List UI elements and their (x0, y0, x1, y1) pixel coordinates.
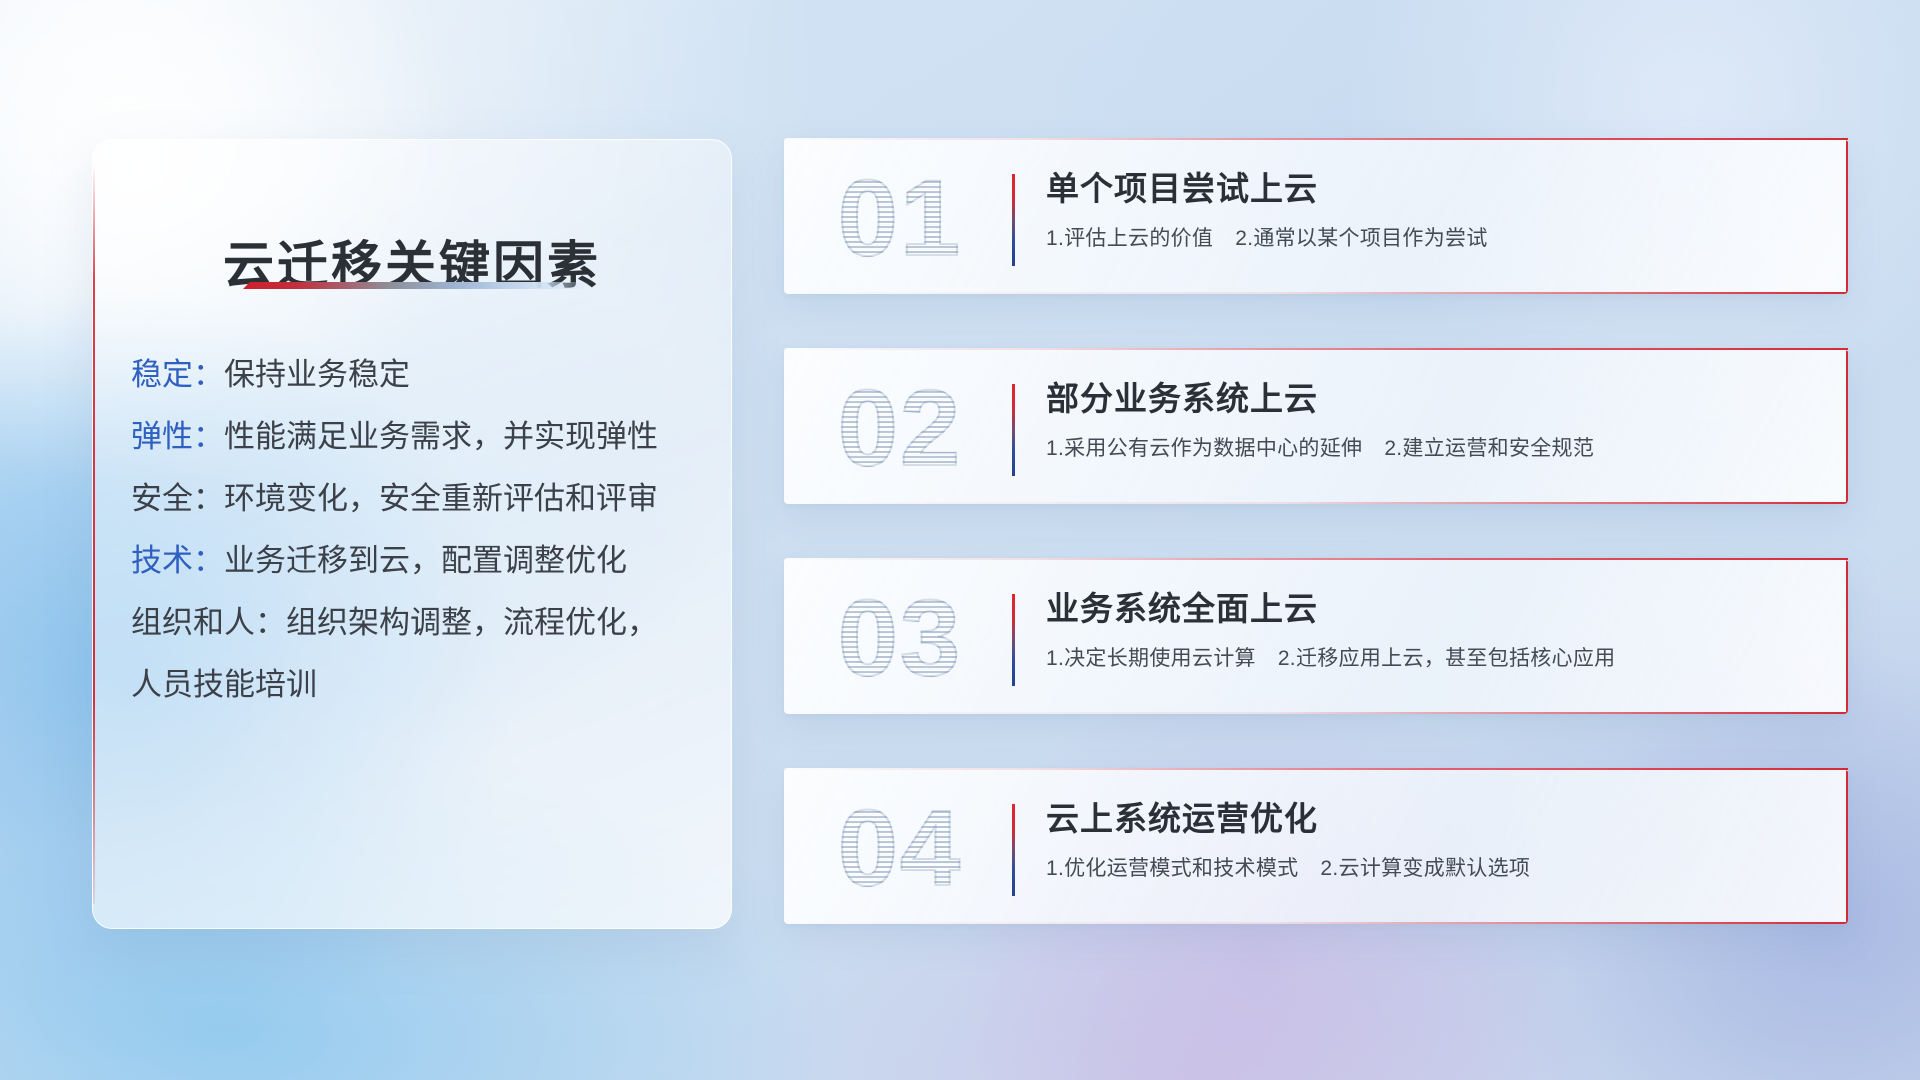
step-text-block-03: 业务系统全面上云 1.决定长期使用云计算2.迁移应用上云，甚至包括核心应用 (1046, 586, 1824, 674)
factor-text-security: 环境变化，安全重新评估和评审 (224, 481, 658, 516)
step-number-watermark-03: 03 (812, 576, 988, 700)
factor-label-security: 安全： (131, 481, 224, 516)
step-subtitle-02: 1.采用公有云作为数据中心的延伸2.建立运营和安全规范 (1046, 434, 1824, 464)
step-accent-bar-03 (1012, 594, 1015, 686)
step-number-watermark-01: 01 (812, 156, 988, 280)
step-point-01-1: 1.评估上云的价值 (1046, 227, 1213, 250)
step-point-02-2: 2.建立运营和安全规范 (1384, 437, 1594, 460)
step-point-04-1: 1.优化运营模式和技术模式 (1046, 857, 1298, 880)
step-point-04-2: 2.云计算变成默认选项 (1320, 857, 1530, 880)
factor-label-organization: 组织和人： (131, 605, 286, 640)
factor-text-elasticity: 性能满足业务需求，并实现弹性 (224, 419, 658, 454)
step-subtitle-04: 1.优化运营模式和技术模式2.云计算变成默认选项 (1046, 854, 1824, 884)
factor-item-elasticity: 弹性：性能满足业务需求，并实现弹性 (131, 406, 705, 468)
key-factors-panel: 云迁移关键因素 稳定：保持业务稳定 弹性：性能满足业务需求，并实现弹性 安全：环… (92, 139, 732, 929)
migration-steps-list: 01 单个项目尝试上云 1.评估上云的价值2.通常以某个项目作为尝试 02 部分… (784, 138, 1848, 978)
factor-text-stability: 保持业务稳定 (224, 357, 410, 392)
step-text-block-01: 单个项目尝试上云 1.评估上云的价值2.通常以某个项目作为尝试 (1046, 166, 1824, 254)
step-text-block-04: 云上系统运营优化 1.优化运营模式和技术模式2.云计算变成默认选项 (1046, 796, 1824, 884)
factor-text-organization-continued: 人员技能培训 (131, 654, 705, 716)
step-point-03-2: 2.迁移应用上云，甚至包括核心应用 (1278, 647, 1616, 670)
title-underline-rule (243, 282, 591, 289)
slide-canvas: 云迁移关键因素 稳定：保持业务稳定 弹性：性能满足业务需求，并实现弹性 安全：环… (0, 0, 1920, 1080)
factor-item-technology: 技术：业务迁移到云，配置调整优化 (131, 530, 705, 592)
factor-label-technology: 技术： (131, 543, 224, 578)
step-point-02-1: 1.采用公有云作为数据中心的延伸 (1046, 437, 1362, 460)
step-title-03: 业务系统全面上云 (1046, 586, 1824, 632)
factor-label-elasticity: 弹性： (131, 419, 224, 454)
step-card-04[interactable]: 04 云上系统运营优化 1.优化运营模式和技术模式2.云计算变成默认选项 (784, 768, 1848, 924)
step-number-watermark-02: 02 (812, 366, 988, 490)
step-subtitle-01: 1.评估上云的价值2.通常以某个项目作为尝试 (1046, 224, 1824, 254)
step-card-03[interactable]: 03 业务系统全面上云 1.决定长期使用云计算2.迁移应用上云，甚至包括核心应用 (784, 558, 1848, 714)
step-card-02[interactable]: 02 部分业务系统上云 1.采用公有云作为数据中心的延伸2.建立运营和安全规范 (784, 348, 1848, 504)
step-title-04: 云上系统运营优化 (1046, 796, 1824, 842)
factor-text-organization: 组织架构调整，流程优化， (286, 605, 658, 640)
factor-label-stability: 稳定： (131, 357, 224, 392)
step-number-watermark-04: 04 (812, 786, 988, 910)
step-title-02: 部分业务系统上云 (1046, 376, 1824, 422)
factor-item-stability: 稳定：保持业务稳定 (131, 344, 705, 406)
step-text-block-02: 部分业务系统上云 1.采用公有云作为数据中心的延伸2.建立运营和安全规范 (1046, 376, 1824, 464)
step-subtitle-03: 1.决定长期使用云计算2.迁移应用上云，甚至包括核心应用 (1046, 644, 1824, 674)
step-accent-bar-02 (1012, 384, 1015, 476)
factor-list: 稳定：保持业务稳定 弹性：性能满足业务需求，并实现弹性 安全：环境变化，安全重新… (131, 344, 705, 716)
factor-text-technology: 业务迁移到云，配置调整优化 (224, 543, 627, 578)
step-point-03-1: 1.决定长期使用云计算 (1046, 647, 1256, 670)
step-title-01: 单个项目尝试上云 (1046, 166, 1824, 212)
factor-item-organization: 组织和人：组织架构调整，流程优化， (131, 592, 705, 654)
step-point-01-2: 2.通常以某个项目作为尝试 (1235, 227, 1487, 250)
step-accent-bar-04 (1012, 804, 1015, 896)
factor-item-security: 安全：环境变化，安全重新评估和评审 (131, 468, 705, 530)
step-card-01[interactable]: 01 单个项目尝试上云 1.评估上云的价值2.通常以某个项目作为尝试 (784, 138, 1848, 294)
step-accent-bar-01 (1012, 174, 1015, 266)
